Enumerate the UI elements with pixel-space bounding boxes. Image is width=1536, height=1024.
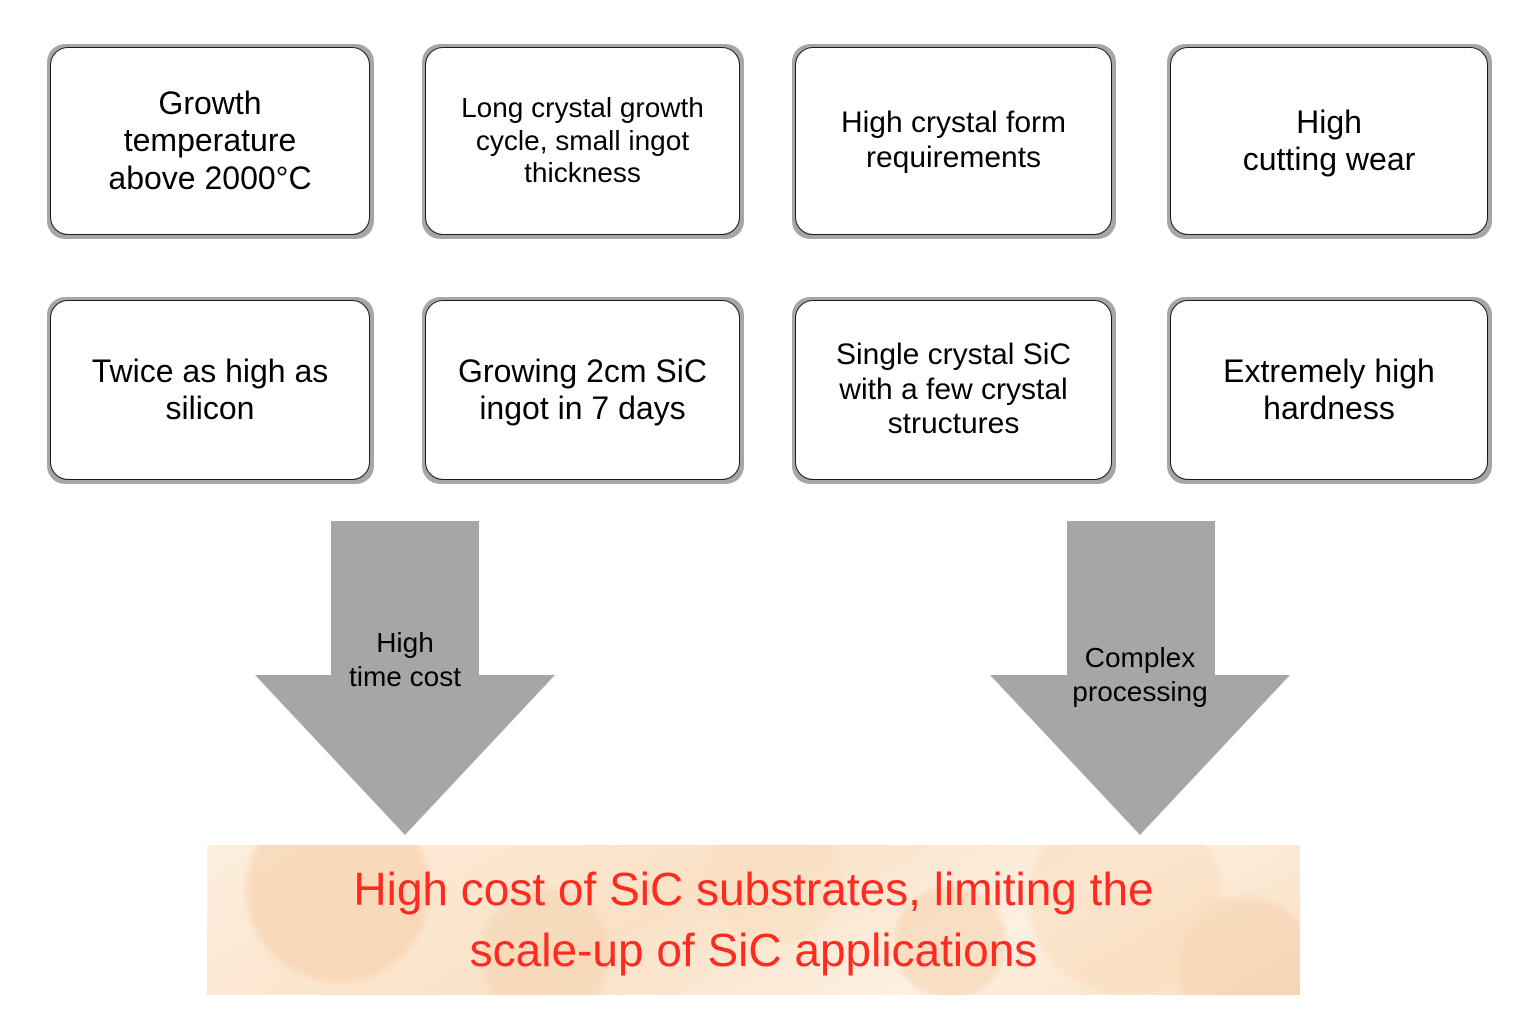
box-growing-2cm-ingot-label: Growing 2cm SiC ingot in 7 days (426, 353, 739, 427)
arrow-complex-processing: Complex processing (990, 521, 1290, 835)
box-high-crystal-form[interactable]: High crystal form requirements (795, 47, 1112, 235)
box-single-crystal-structures[interactable]: Single crystal SiC with a few crystal st… (795, 300, 1112, 480)
box-extremely-high-hardness-label: Extremely high hardness (1171, 353, 1487, 427)
conclusion-banner[interactable]: High cost of SiC substrates, limiting th… (207, 845, 1300, 995)
box-growth-temperature-label: Growth temperature above 2000°C (51, 85, 369, 196)
box-growth-temperature[interactable]: Growth temperature above 2000°C (50, 47, 370, 235)
arrow-high-time-cost-label: High time cost (255, 626, 555, 693)
box-long-growth-cycle-label: Long crystal growth cycle, small ingot t… (426, 92, 739, 189)
box-twice-as-high-as-silicon[interactable]: Twice as high as silicon (50, 300, 370, 480)
diagram-canvas: Growth temperature above 2000°C Long cry… (0, 0, 1536, 1024)
arrow-high-time-cost: High time cost (255, 521, 555, 835)
box-twice-as-high-as-silicon-label: Twice as high as silicon (51, 353, 369, 427)
box-extremely-high-hardness[interactable]: Extremely high hardness (1170, 300, 1488, 480)
box-high-cutting-wear[interactable]: High cutting wear (1170, 47, 1488, 235)
box-high-crystal-form-label: High crystal form requirements (796, 106, 1111, 176)
conclusion-banner-label: High cost of SiC substrates, limiting th… (207, 859, 1300, 980)
box-single-crystal-structures-label: Single crystal SiC with a few crystal st… (796, 338, 1111, 442)
arrow-complex-processing-label: Complex processing (990, 641, 1290, 708)
box-high-cutting-wear-label: High cutting wear (1171, 104, 1487, 178)
box-growing-2cm-ingot[interactable]: Growing 2cm SiC ingot in 7 days (425, 300, 740, 480)
box-long-growth-cycle[interactable]: Long crystal growth cycle, small ingot t… (425, 47, 740, 235)
